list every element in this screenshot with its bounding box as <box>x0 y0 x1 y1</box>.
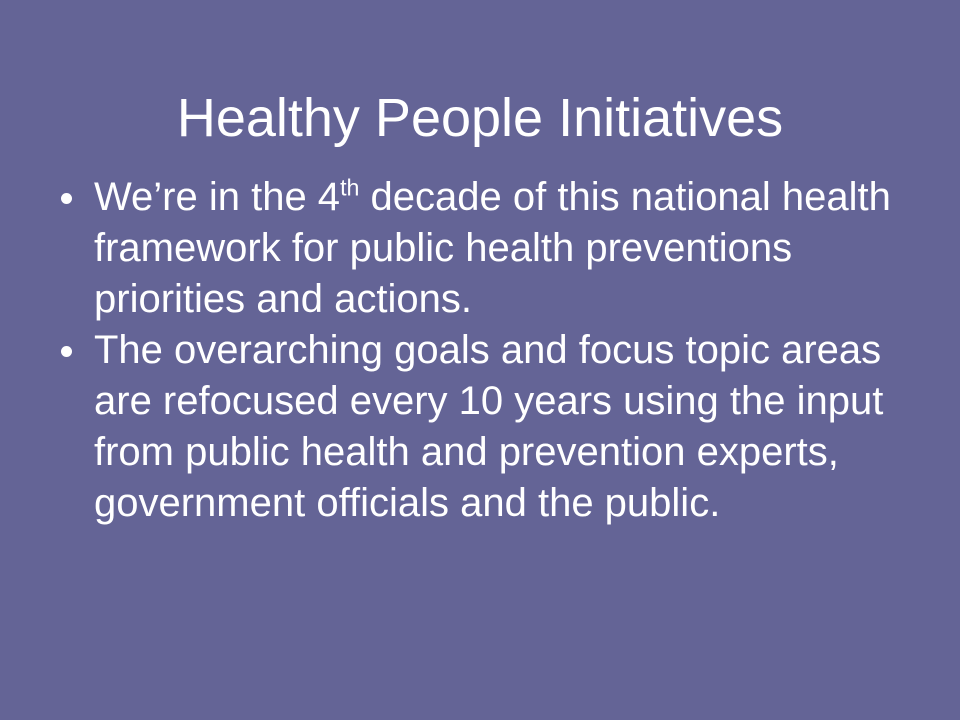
bullet-1-text-before-superscript: We’re in the 4 <box>94 175 340 219</box>
bullet-list: We’re in the 4th decade of this national… <box>52 172 928 529</box>
bullet-item-2-text: The overarching goals and focus topic ar… <box>94 325 928 529</box>
slide-title: Healthy People Initiatives <box>0 86 960 150</box>
bullet-item-1-text: We’re in the 4th decade of this national… <box>94 172 928 325</box>
bullet-dot-icon <box>61 193 72 204</box>
presentation-slide: Healthy People Initiatives We’re in the … <box>0 0 960 720</box>
bullet-dot-icon <box>61 346 72 357</box>
bullet-item-1: We’re in the 4th decade of this national… <box>52 172 928 325</box>
bullet-item-2: The overarching goals and focus topic ar… <box>52 325 928 529</box>
ordinal-superscript: th <box>340 175 359 201</box>
